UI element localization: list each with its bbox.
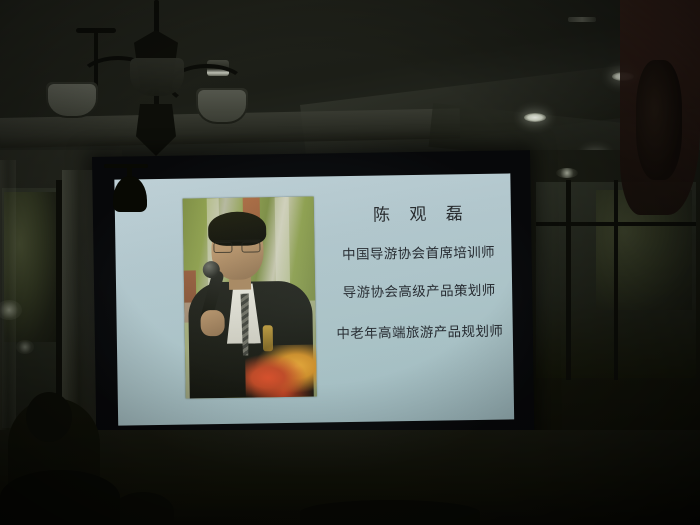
projected-slide: 陈 观 磊 中国导游协会首席培训师 导游协会高级产品策划师 中老年高端旅游产品规… <box>114 173 514 425</box>
slide-credential-line: 导游协会高级产品策划师 <box>326 284 512 300</box>
audience-silhouette <box>300 500 480 525</box>
slide-credential-line: 中国导游协会首席培训师 <box>325 246 511 262</box>
slide-credential-line: 中老年高端旅游产品规划师 <box>327 325 513 341</box>
ceiling-slot <box>568 17 596 22</box>
room-scene: 陈 观 磊 中国导游协会首席培训师 导游协会高级产品策划师 中老年高端旅游产品规… <box>0 0 700 525</box>
slide-photo <box>183 197 317 399</box>
projection-screen: 陈 观 磊 中国导游协会首席培训师 导游协会高级产品策划师 中老年高端旅游产品规… <box>92 150 535 457</box>
window-light-glow <box>556 168 578 178</box>
silhouette-head <box>26 392 72 442</box>
window-mullion <box>566 180 571 380</box>
ceiling-fixture-right-detail <box>636 60 682 180</box>
downlight-icon <box>524 113 546 122</box>
window-light-glow <box>16 340 34 354</box>
slide-text-block: 陈 观 磊 中国导游协会首席培训师 导游协会高级产品策划师 中老年高端旅游产品规… <box>324 183 512 341</box>
chandelier-cap <box>76 28 116 33</box>
photo-flowers <box>245 344 317 398</box>
slide-content: 陈 观 磊 中国导游协会首席培训师 导游协会高级产品策划师 中老年高端旅游产品规… <box>114 173 514 425</box>
slide-title: 陈 观 磊 <box>325 205 511 225</box>
photo-hand <box>200 310 224 336</box>
glasses-icon <box>213 239 260 252</box>
chandelier-shade <box>130 58 184 96</box>
chandelier-shade-glass <box>198 90 246 122</box>
curtain <box>62 170 96 430</box>
chandelier-lantern-lower <box>136 104 176 156</box>
curtain <box>0 160 16 430</box>
window-mullion <box>614 180 618 380</box>
audience-silhouette <box>0 470 120 525</box>
silhouette-head-center <box>112 492 174 525</box>
chandelier-shade-glass <box>48 84 96 116</box>
lamp-mount-bar <box>104 164 148 168</box>
window-transom <box>536 222 696 226</box>
